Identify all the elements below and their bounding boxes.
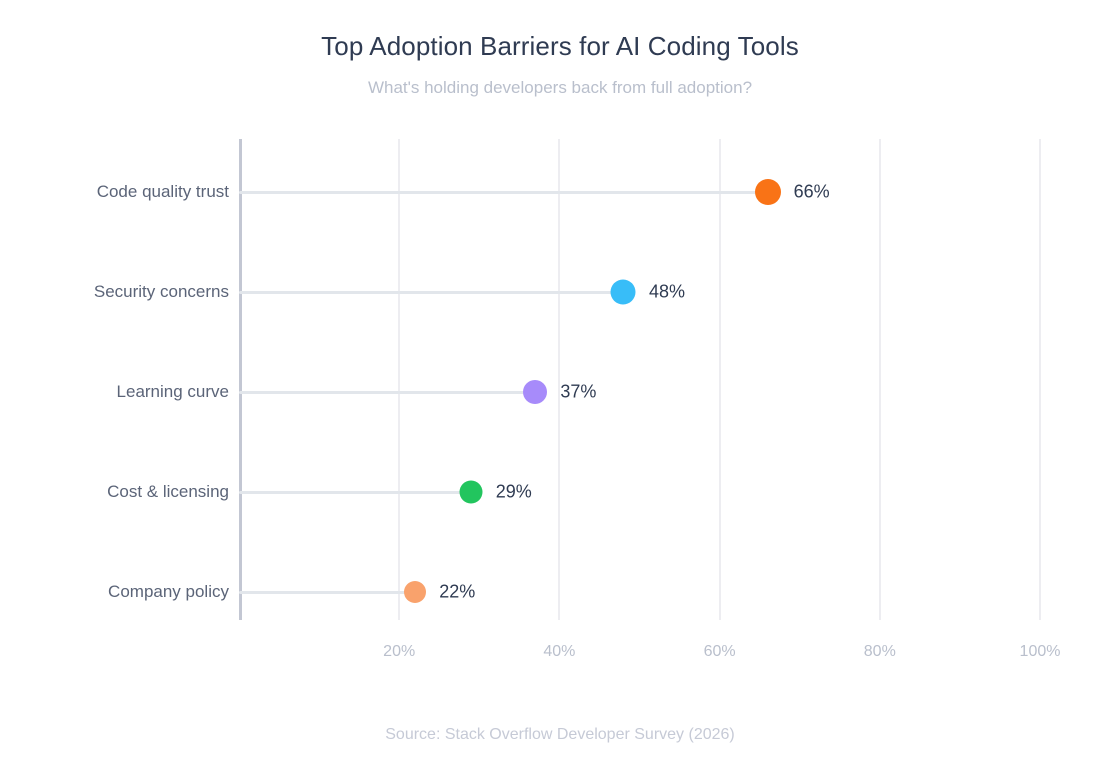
gridline-80 [879,139,881,620]
chart-title: Top Adoption Barriers for AI Coding Tool… [0,31,1120,62]
gridline-60 [719,139,721,620]
category-label: Learning curve [117,382,229,402]
data-point-marker[interactable] [523,380,547,404]
chart-container: Top Adoption Barriers for AI Coding Tool… [0,0,1120,760]
data-point-value-label: 37% [560,382,596,403]
category-label: Security concerns [94,282,229,302]
y-axis-spine [239,139,242,620]
x-tick-label: 100% [1020,643,1061,661]
x-tick-label: 20% [383,643,415,661]
row-connector-line [239,391,535,394]
data-point-value-label: 29% [496,482,532,503]
category-label: Company policy [108,582,229,602]
category-label: Cost & licensing [107,482,229,502]
row-connector-line [239,191,768,194]
data-point-value-label: 66% [794,182,830,203]
gridline-40 [558,139,560,620]
x-tick-label: 60% [704,643,736,661]
data-point-marker[interactable] [460,481,483,504]
data-point-marker[interactable] [755,179,781,205]
data-point-marker[interactable] [611,280,636,305]
x-tick-label: 80% [864,643,896,661]
data-point-value-label: 48% [649,282,685,303]
chart-source-note: Source: Stack Overflow Developer Survey … [0,726,1120,744]
chart-subtitle: What's holding developers back from full… [0,78,1120,98]
data-point-marker[interactable] [404,581,426,603]
gridline-100 [1039,139,1041,620]
gridline-20 [398,139,400,620]
x-tick-label: 40% [543,643,575,661]
data-point-value-label: 22% [439,582,475,603]
category-label: Code quality trust [97,182,229,202]
row-connector-line [239,291,623,294]
row-connector-line [239,591,415,594]
row-connector-line [239,491,471,494]
